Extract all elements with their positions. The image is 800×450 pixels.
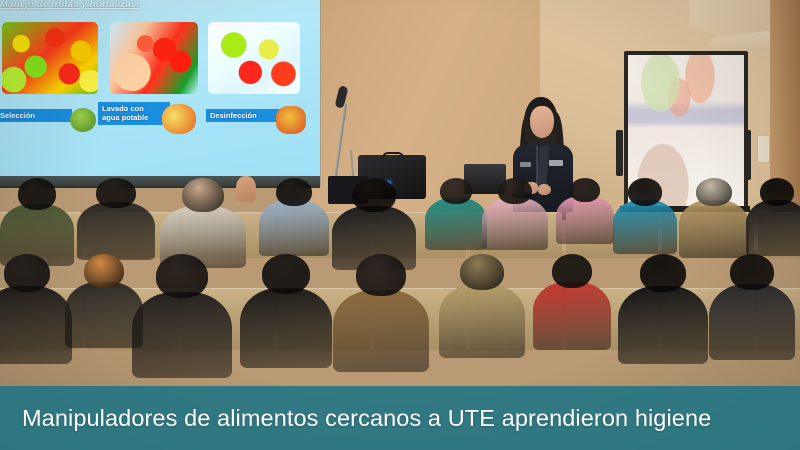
audience-member-head bbox=[498, 178, 532, 204]
audience-member-head bbox=[628, 178, 662, 206]
caption-headline: Manipuladores de alimentos cercanos a UT… bbox=[22, 386, 782, 450]
audience-member-head bbox=[182, 178, 224, 212]
audience-member-torso bbox=[613, 200, 677, 254]
audience-member-head bbox=[570, 178, 600, 202]
audience-member-head bbox=[640, 254, 686, 292]
audience-member-head bbox=[156, 254, 208, 298]
audience-member-head bbox=[4, 254, 50, 292]
audience-member-head bbox=[262, 254, 310, 294]
audience-raised-hand bbox=[236, 176, 256, 202]
audience-member-head bbox=[84, 254, 124, 288]
rinsing-apples-tomatoes-photo bbox=[208, 22, 300, 94]
audience-member-torso bbox=[259, 200, 329, 256]
news-photo: Manejo de frutas y hortalizas: Selección… bbox=[0, 0, 800, 450]
screenshot-root: Manejo de frutas y hortalizas: Selección… bbox=[0, 0, 800, 450]
audience-member-torso bbox=[618, 286, 708, 364]
audience-member-torso bbox=[482, 198, 548, 250]
audience-member-torso bbox=[439, 284, 525, 358]
audience-member-head bbox=[460, 254, 504, 290]
audience-member-head bbox=[730, 254, 774, 290]
audience-member-torso bbox=[533, 282, 611, 350]
audience-member-head bbox=[356, 254, 406, 296]
audience-member-torso bbox=[425, 198, 487, 250]
audience-member-torso bbox=[333, 290, 429, 372]
slide-step-label-seleccion: Selección bbox=[0, 109, 72, 122]
slide-step-label-lavado: Lavado con agua potable bbox=[98, 102, 170, 125]
slide-images bbox=[0, 22, 300, 94]
slide-title: Manejo de frutas y hortalizas: bbox=[0, 0, 140, 10]
audience-member-head bbox=[440, 178, 472, 204]
audience-member-head bbox=[96, 178, 136, 208]
audience-member-torso bbox=[709, 284, 795, 360]
audience-member-torso bbox=[0, 286, 72, 364]
presenter-face bbox=[530, 106, 554, 138]
assorted-fruits-vegetables-photo bbox=[2, 22, 98, 94]
lettuce-icon bbox=[70, 108, 96, 132]
audience-member-torso bbox=[77, 202, 155, 260]
audience-member-torso bbox=[240, 288, 332, 368]
audience-member-head bbox=[18, 178, 56, 210]
slide-step-label-desinfeccion: Desinfección bbox=[206, 109, 280, 122]
disinfected-fruit-icon bbox=[276, 106, 306, 134]
audience-member-head bbox=[696, 178, 732, 206]
audience-member-torso bbox=[556, 196, 614, 244]
audience-member-head bbox=[276, 178, 312, 206]
washing-fruit-icon bbox=[162, 104, 196, 134]
audience-member-torso bbox=[679, 200, 749, 258]
audience-member-torso bbox=[746, 200, 800, 256]
audience-member-head bbox=[760, 178, 794, 206]
audience-member-head bbox=[352, 178, 396, 212]
audience-member-head bbox=[552, 254, 592, 288]
washing-tomatoes-photo bbox=[110, 22, 198, 94]
audience-member-torso bbox=[132, 292, 232, 378]
